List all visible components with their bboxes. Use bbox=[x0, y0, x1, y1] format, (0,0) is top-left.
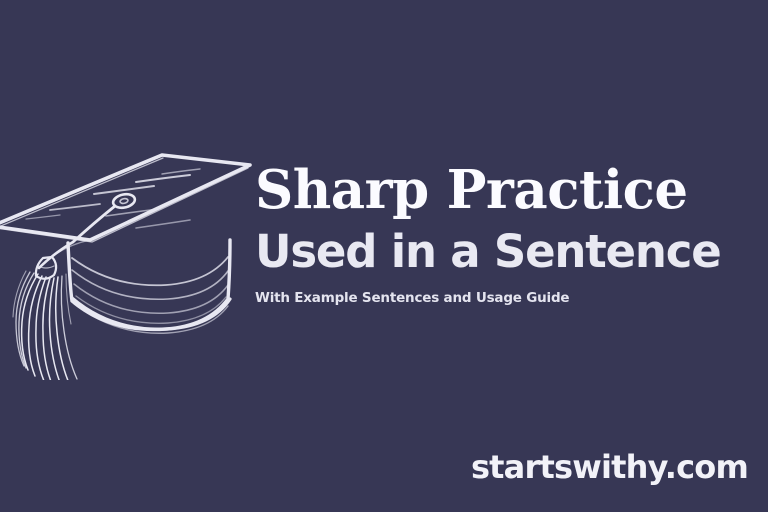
graduation-cap-icon bbox=[0, 140, 266, 380]
headline-block: Sharp Practice Used in a Sentence With E… bbox=[255, 160, 755, 306]
banner-card: Sharp Practice Used in a Sentence With E… bbox=[0, 0, 768, 512]
headline-line-1: Sharp Practice bbox=[255, 160, 755, 220]
brand-website-label: startswithy.com bbox=[471, 448, 748, 486]
headline-line-2: Used in a Sentence bbox=[255, 226, 755, 278]
subtitle-text: With Example Sentences and Usage Guide bbox=[255, 290, 755, 306]
